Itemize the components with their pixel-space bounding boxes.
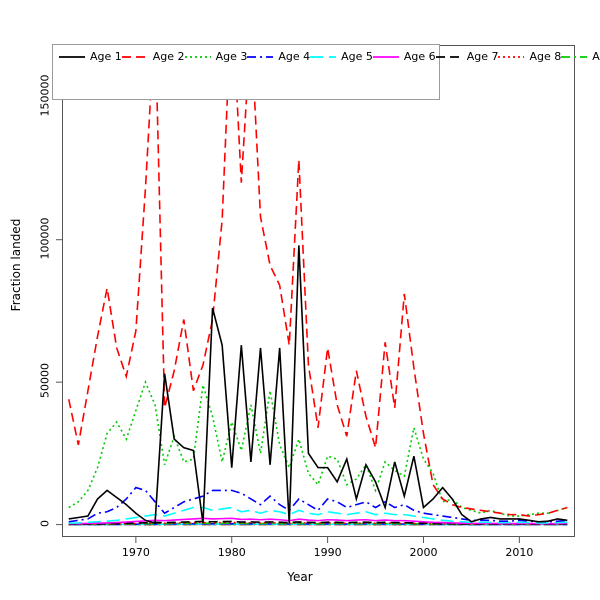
legend-label: Age 9 xyxy=(592,49,600,65)
x-tick-label: 2010 xyxy=(489,546,549,559)
legend-label: Age 2 xyxy=(153,49,185,65)
legend-label: Age 4 xyxy=(278,49,310,65)
y-tick-label: 150000 xyxy=(39,69,52,123)
x-tick-label: 2000 xyxy=(393,546,453,559)
plot-area xyxy=(62,45,575,537)
legend-item-age-9[interactable]: Age 9 xyxy=(561,49,600,65)
legend-label: Age 3 xyxy=(216,49,248,65)
chart-root: Fraction landed Year 050000100000150000 … xyxy=(0,0,600,600)
legend-item-age-4[interactable]: Age 4 xyxy=(247,49,310,65)
x-axis-label: Year xyxy=(0,570,600,584)
legend-swatch-icon xyxy=(122,52,148,62)
legend-swatch-icon xyxy=(59,52,85,62)
y-axis-label: Fraction landed xyxy=(9,205,23,325)
y-tick-label: 50000 xyxy=(39,354,52,408)
legend-label: Age 6 xyxy=(404,49,436,65)
series-line-age-4 xyxy=(69,488,568,522)
series-line-age-3 xyxy=(69,382,568,516)
y-tick-label: 0 xyxy=(39,496,52,550)
legend-item-age-7[interactable]: Age 7 xyxy=(436,49,499,65)
x-tick-label: 1980 xyxy=(202,546,262,559)
x-tick-label: 1990 xyxy=(298,546,358,559)
legend-label: Age 5 xyxy=(341,49,373,65)
legend-item-age-2[interactable]: Age 2 xyxy=(122,49,185,65)
legend-swatch-icon xyxy=(561,52,587,62)
legend-swatch-icon xyxy=(498,52,524,62)
series-lines xyxy=(63,46,574,536)
y-tick-label: 100000 xyxy=(39,211,52,265)
legend-label: Age 7 xyxy=(467,49,499,65)
series-line-age-1 xyxy=(69,245,568,523)
legend-label: Age 1 xyxy=(90,49,122,65)
legend-item-age-1[interactable]: Age 1 xyxy=(59,49,122,65)
legend-item-age-6[interactable]: Age 6 xyxy=(373,49,436,65)
legend-swatch-icon xyxy=(310,52,336,62)
legend-swatch-icon xyxy=(373,52,399,62)
x-tick-label: 1970 xyxy=(106,546,166,559)
legend-swatch-icon xyxy=(185,52,211,62)
legend-item-age-8[interactable]: Age 8 xyxy=(498,49,561,65)
legend-label: Age 8 xyxy=(529,49,561,65)
legend-swatch-icon xyxy=(247,52,273,62)
legend-item-age-5[interactable]: Age 5 xyxy=(310,49,373,65)
legend-swatch-icon xyxy=(436,52,462,62)
series-line-age-2 xyxy=(69,46,568,516)
legend: Age 1Age 2Age 3Age 4Age 5Age 6Age 7Age 8… xyxy=(52,44,440,100)
legend-item-age-3[interactable]: Age 3 xyxy=(185,49,248,65)
